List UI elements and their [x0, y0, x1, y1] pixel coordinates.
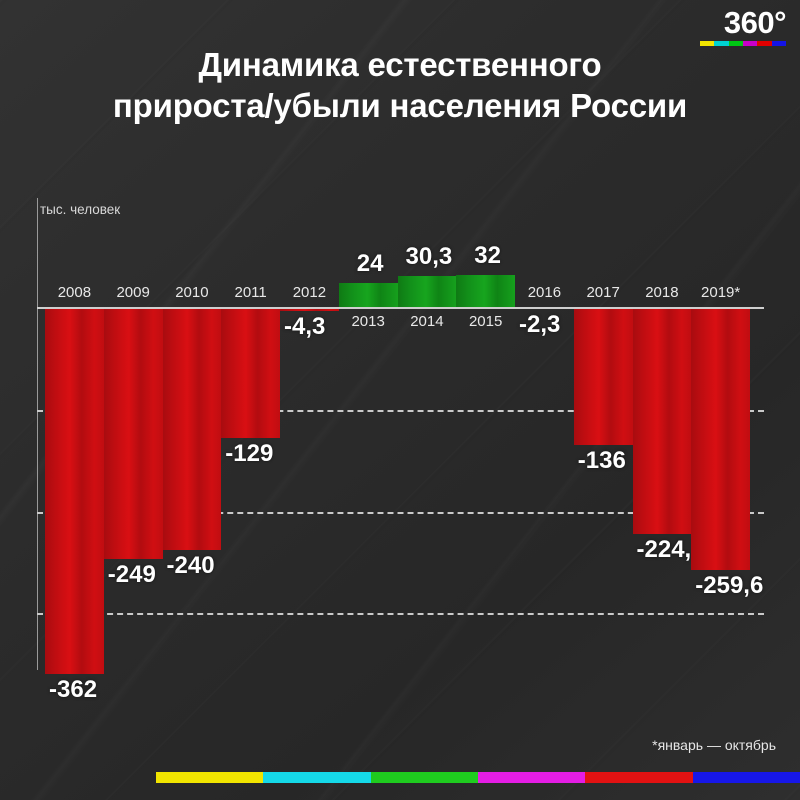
bar-2013[interactable]: [339, 283, 398, 307]
color-segment-4: [585, 772, 692, 783]
bar-year-label-2012: 2012: [280, 284, 339, 301]
bar-2014[interactable]: [398, 276, 457, 307]
page-title-line-2: прироста/убыли населения России: [0, 85, 800, 126]
bar-2019[interactable]: [691, 307, 750, 570]
color-segment-3: [478, 772, 585, 783]
bottom-rainbow-bar: [156, 772, 800, 783]
bar-year-label-2013: 2013: [339, 313, 398, 330]
bar-2015[interactable]: [456, 275, 515, 307]
bar-year-label-2015: 2015: [456, 313, 515, 330]
bar-year-label-2017: 2017: [574, 284, 633, 301]
bar-2018[interactable]: [633, 307, 692, 534]
bar-year-label-2008: 2008: [45, 284, 104, 301]
bar-year-label-2011: 2011: [221, 284, 280, 301]
bar-2009[interactable]: [104, 307, 163, 559]
bar-2017[interactable]: [574, 307, 633, 445]
bar-value-label-2013: 24: [341, 250, 400, 278]
color-segment-4: [757, 41, 771, 46]
color-segment-3: [743, 41, 757, 46]
bar-value-label-2016: -2,3: [519, 311, 560, 339]
infographic-poster: 360° Динамика естественного прироста/убы…: [0, 0, 800, 800]
bar-year-label-2009: 2009: [104, 284, 163, 301]
color-segment-1: [263, 772, 370, 783]
bar-value-label-2008: -362: [49, 676, 97, 704]
page-title: Динамика естественного прироста/убыли на…: [0, 44, 800, 126]
color-segment-2: [729, 41, 743, 46]
bar-year-label-2014: 2014: [398, 313, 457, 330]
zero-axis-line: [37, 307, 764, 309]
bar-year-label-2010: 2010: [163, 284, 222, 301]
bar-value-label-2019: -259,6: [695, 572, 763, 600]
page-title-line-1: Динамика естественного: [0, 44, 800, 85]
bar-year-label-2019: 2019*: [691, 284, 750, 301]
bar-2008[interactable]: [45, 307, 104, 674]
color-segment-5: [693, 772, 800, 783]
color-segment-5: [772, 41, 786, 46]
bar-value-label-2017: -136: [578, 447, 626, 475]
bar-value-label-2012: -4,3: [284, 313, 325, 341]
bar-year-label-2016: 2016: [515, 284, 574, 301]
bar-value-label-2011: -129: [225, 440, 273, 468]
bar-value-label-2009: -249: [108, 561, 156, 589]
footnote: *январь — октябрь: [652, 737, 776, 753]
bar-value-label-2014: 30,3: [400, 243, 459, 271]
bar-2010[interactable]: [163, 307, 222, 550]
y-axis-line: [37, 198, 38, 670]
color-segment-1: [714, 41, 728, 46]
color-segment-0: [700, 41, 714, 46]
color-segment-0: [156, 772, 263, 783]
brand-logo: 360°: [700, 6, 786, 46]
bar-value-label-2015: 32: [458, 242, 517, 270]
color-segment-2: [371, 772, 478, 783]
bar-year-label-2018: 2018: [633, 284, 692, 301]
brand-logo-text: 360°: [700, 6, 786, 40]
bar-2011[interactable]: [221, 307, 280, 438]
brand-logo-rainbow-bar: [700, 41, 786, 46]
bar-value-label-2010: -240: [167, 552, 215, 580]
